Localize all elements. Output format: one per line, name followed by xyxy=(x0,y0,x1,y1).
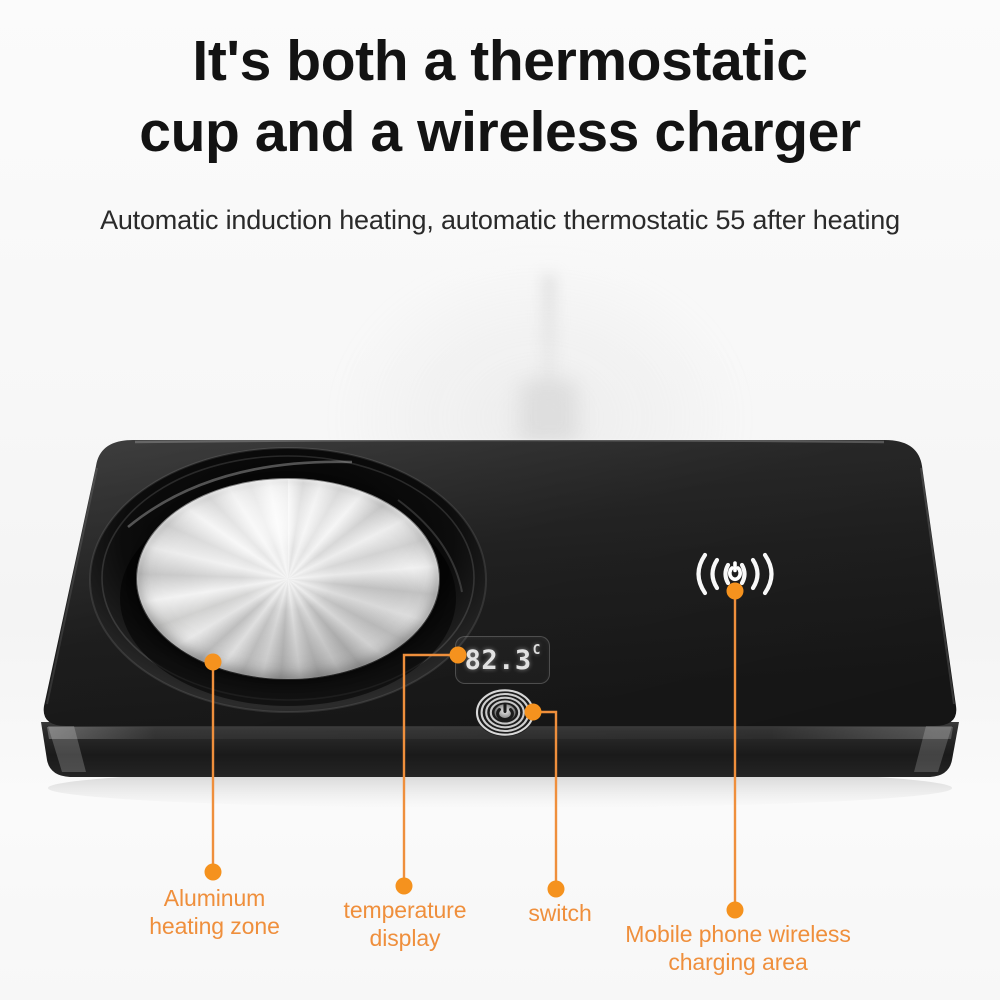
temperature-value: 82.3 xyxy=(465,647,532,674)
aluminum-plate-edge xyxy=(136,478,440,680)
title-line-1: It's both a thermostatic xyxy=(0,26,1000,97)
wireless-center-glyph xyxy=(730,563,740,579)
callout-dot-switch-label xyxy=(548,881,565,898)
temperature-display: 82.3 C xyxy=(455,636,550,684)
product-infographic-canvas: It's both a thermostatic cup and a wirel… xyxy=(0,0,1000,1000)
aluminum-heating-plate[interactable] xyxy=(137,479,439,679)
callout-label-aluminum-heating-zone: Aluminum heating zone xyxy=(97,884,332,940)
background-ghost-stem xyxy=(543,275,555,395)
callout-dot-wireless-label xyxy=(727,902,744,919)
callout-label-wireless-line-1: Mobile phone wireless xyxy=(588,920,888,948)
callout-label-temperature-line-2: display xyxy=(300,924,510,952)
callout-line-switch xyxy=(533,712,556,889)
callout-dot-temperature-label xyxy=(396,878,413,895)
callout-dot-aluminum-label xyxy=(205,864,222,881)
title-line-2: cup and a wireless charger xyxy=(0,97,1000,168)
page-title: It's both a thermostatic cup and a wirel… xyxy=(0,26,1000,167)
temperature-unit: C xyxy=(533,644,541,657)
background-ghost-base xyxy=(520,380,578,442)
callout-line-temperature xyxy=(404,655,458,886)
callout-label-wireless-charging-area: Mobile phone wireless charging area xyxy=(588,920,888,976)
wireless-charging-icon xyxy=(688,548,782,600)
callout-label-aluminum-line-1: Aluminum xyxy=(97,884,332,912)
callout-label-wireless-line-2: charging area xyxy=(588,948,888,976)
callout-label-aluminum-line-2: heating zone xyxy=(97,912,332,940)
power-button[interactable] xyxy=(474,688,536,737)
page-subtitle: Automatic induction heating, automatic t… xyxy=(0,205,1000,236)
